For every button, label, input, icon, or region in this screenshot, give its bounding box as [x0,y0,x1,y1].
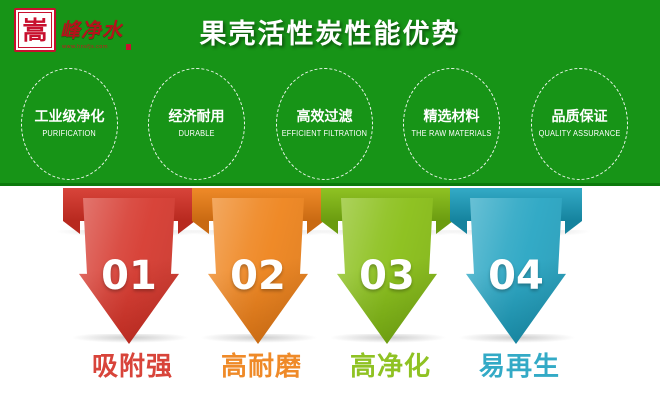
feature-label-cn: 高效过滤 [297,110,353,125]
arrow-body: 04 [466,198,566,344]
arrow-body: 01 [79,198,179,344]
poster: 嵩 峰净水 www.hnsfjs.com 果壳活性炭性能优势 工业级净化 PUR… [0,0,660,400]
feature-label-en: EFFICIENT FILTRATION [282,129,367,138]
feature-ellipse: 工业级净化 PURIFICATION [21,68,118,180]
step-arrow-row: 01 02 [0,186,660,346]
page-title: 果壳活性炭性能优势 [0,12,660,51]
step-number: 04 [466,256,566,296]
feature-ellipse: 经济耐用 DURABLE [148,68,245,180]
feature-label-cn: 经济耐用 [169,110,225,125]
step-number: 03 [337,256,437,296]
feature-ellipse-row: 工业级净化 PURIFICATION 经济耐用 DURABLE 高效过滤 EFF… [0,68,660,180]
step-caption: 易再生 [442,352,597,383]
feature-label-cn: 精选材料 [424,110,480,125]
step-caption-row: 吸附强 高耐磨 高净化 易再生 [0,352,660,392]
step-arrow[interactable]: 04 [442,186,597,346]
step-number: 02 [208,256,308,296]
arrow-body: 02 [208,198,308,344]
step-number: 01 [79,256,179,296]
feature-label-cn: 品质保证 [552,110,608,125]
feature-label-cn: 工业级净化 [35,110,105,125]
feature-label-en: THE RAW MATERIALS [411,129,491,138]
arrow-body: 03 [337,198,437,344]
feature-label-en: QUALITY ASSURANCE [539,129,621,138]
feature-label-en: DURABLE [178,129,214,138]
feature-ellipse: 高效过滤 EFFICIENT FILTRATION [276,68,373,180]
feature-ellipse: 品质保证 QUALITY ASSURANCE [531,68,628,180]
feature-ellipse: 精选材料 THE RAW MATERIALS [403,68,500,180]
feature-label-en: PURIFICATION [43,129,97,138]
